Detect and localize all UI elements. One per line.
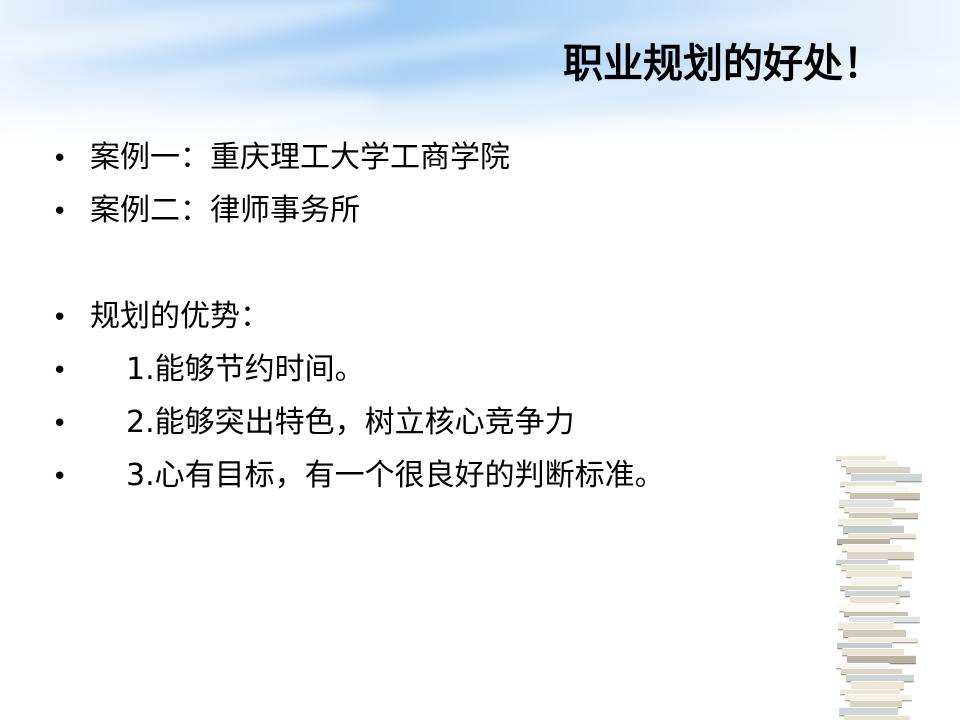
bullet-item-label: 案例二：律师事务所 — [90, 184, 360, 237]
bullet-item: •1.能够节约时间。 — [52, 343, 872, 396]
bullet-point-icon: • — [52, 345, 90, 398]
stack-of-books-image — [838, 455, 912, 720]
slide-title: 职业规划的好处！ — [563, 40, 883, 88]
bullet-point-icon: • — [52, 133, 90, 186]
slide-body-bullet-list: •案例一：重庆理工大学工商学院•案例二：律师事务所•规划的优势：•1.能够节约时… — [52, 131, 872, 502]
book-layer — [844, 715, 910, 720]
bullet-item: •案例一：重庆理工大学工商学院 — [52, 131, 872, 184]
bullet-item-label: 3.心有目标，有一个很良好的判断标准。 — [90, 449, 665, 502]
bullet-item-label: 案例一：重庆理工大学工商学院 — [90, 131, 510, 184]
bullet-item-label: 规划的优势： — [90, 290, 270, 343]
bullet-item: •2.能够突出特色，树立核心竞争力 — [52, 396, 872, 449]
bullet-point-icon: • — [52, 186, 90, 239]
bullet-item: •3.心有目标，有一个很良好的判断标准。 — [52, 449, 872, 502]
bullet-item-label: 1.能够节约时间。 — [90, 343, 365, 396]
bullet-item-label: 2.能够突出特色，树立核心竞争力 — [90, 396, 575, 449]
bullet-item: •规划的优势： — [52, 290, 872, 343]
bullet-item: •案例二：律师事务所 — [52, 184, 872, 237]
presentation-slide: 职业规划的好处！ •案例一：重庆理工大学工商学院•案例二：律师事务所•规划的优势… — [0, 0, 960, 720]
bullet-point-icon: • — [52, 292, 90, 345]
bullet-point-icon: • — [52, 451, 90, 504]
bullet-point-icon: • — [52, 398, 90, 451]
